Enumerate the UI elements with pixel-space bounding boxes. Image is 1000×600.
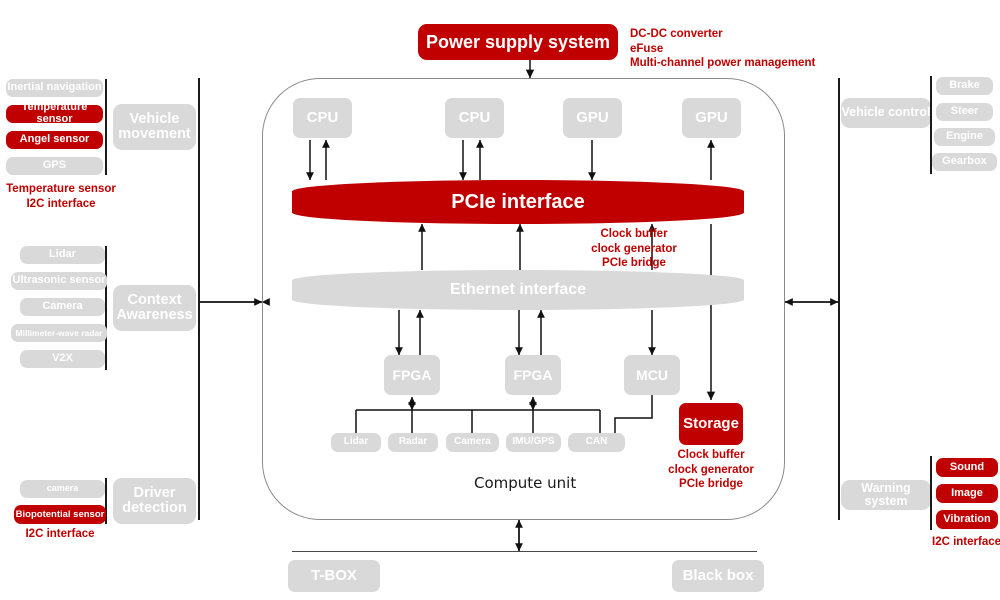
cpu-box-2[interactable]: CPU bbox=[445, 98, 504, 138]
gpu-label-1: GPU bbox=[576, 110, 609, 126]
cpu-label-2: CPU bbox=[459, 110, 491, 126]
group-label-vehicle-control[interactable]: Vehicle control bbox=[841, 98, 931, 128]
group-label-driver-detection[interactable]: Driver detection bbox=[113, 478, 196, 524]
actuator-engine[interactable]: Engine bbox=[934, 128, 995, 146]
fpga-label-2: FPGA bbox=[514, 368, 553, 383]
actuator-sound[interactable]: Sound bbox=[936, 458, 998, 477]
actuator-label-engine: Engine bbox=[946, 131, 983, 143]
gpu-box-1[interactable]: GPU bbox=[563, 98, 622, 138]
sensor-label-gps: GPS bbox=[43, 160, 66, 172]
sensor-temperature-sensor[interactable]: Temperature sensor bbox=[6, 105, 103, 123]
group-text-warning-system: Warning system bbox=[841, 482, 931, 508]
right-spine-line bbox=[838, 78, 840, 520]
bracket-warning-system bbox=[930, 456, 932, 530]
io-chip-label-radar: Radar bbox=[399, 437, 427, 448]
storage-label: Storage bbox=[683, 416, 739, 432]
cpu-label-1: CPU bbox=[307, 110, 339, 126]
actuator-gearbox[interactable]: Gearbox bbox=[932, 153, 997, 171]
mcu-box[interactable]: MCU bbox=[624, 355, 680, 395]
sensor-label-millimeter-wave-radar: Millimeter-wave radar bbox=[16, 329, 103, 338]
actuator-image[interactable]: Image bbox=[936, 484, 998, 503]
actuator-label-brake: Brake bbox=[949, 80, 980, 92]
black-box-label: Black box bbox=[683, 568, 754, 584]
sensor-biopotential-sensor[interactable]: Biopotential sensor bbox=[14, 505, 106, 524]
group-text-context-awareness: Context Awareness bbox=[116, 293, 192, 323]
bottom-bus-line bbox=[292, 551, 757, 552]
power-supply-annotation: DC-DC converter eFuse Multi-channel powe… bbox=[630, 27, 870, 71]
actuator-steer[interactable]: Steer bbox=[936, 103, 993, 121]
bracket-vehicle-movement bbox=[105, 79, 107, 175]
sensor-label-lidar: Lidar bbox=[49, 249, 76, 261]
sensor-label-ultrasonic-sensor: Ultrasonic sensor bbox=[13, 275, 106, 287]
power-supply-label: Power supply system bbox=[426, 33, 610, 52]
actuator-label-sound: Sound bbox=[950, 462, 984, 474]
group-text-vehicle-control: Vehicle control bbox=[842, 106, 931, 119]
group-text-driver-detection: Driver detection bbox=[122, 486, 186, 516]
storage-box[interactable]: Storage bbox=[679, 403, 743, 445]
sensor-driver-camera[interactable]: camera bbox=[20, 480, 105, 498]
sensor-label-biopotential-sensor: Biopotential sensor bbox=[16, 510, 105, 520]
warning-system-annotation: I2C interface bbox=[932, 535, 1000, 550]
gpu-box-2[interactable]: GPU bbox=[682, 98, 741, 138]
group-label-context-awareness[interactable]: Context Awareness bbox=[113, 285, 196, 331]
io-chip-label-lidar: Lidar bbox=[344, 437, 368, 448]
sensor-label-temperature-sensor: Temperature sensor bbox=[6, 102, 103, 125]
sensor-camera-context[interactable]: Camera bbox=[20, 298, 105, 316]
pcie-annotation: Clock buffer clock generator PCIe bridge bbox=[546, 227, 722, 271]
actuator-label-image: Image bbox=[951, 488, 983, 500]
left-spine-line bbox=[198, 78, 200, 520]
sensor-v2x[interactable]: V2X bbox=[20, 350, 105, 368]
sensor-angel-sensor[interactable]: Angel sensor bbox=[6, 131, 103, 149]
vehicle-movement-annotation: Temperature sensor I2C interface bbox=[2, 182, 120, 211]
io-chip-radar[interactable]: Radar bbox=[388, 433, 438, 452]
sensor-label-inertial-navigation: Inertial navigation bbox=[7, 82, 101, 94]
fpga-box-1[interactable]: FPGA bbox=[384, 355, 440, 395]
cpu-box-1[interactable]: CPU bbox=[293, 98, 352, 138]
sensor-label-angel-sensor: Angel sensor bbox=[20, 134, 90, 146]
group-label-warning-system[interactable]: Warning system bbox=[841, 480, 931, 510]
io-chip-lidar[interactable]: Lidar bbox=[331, 433, 381, 452]
pcie-interface-label: PCIe interface bbox=[451, 191, 584, 214]
io-chip-label-camera: Camera bbox=[454, 437, 491, 448]
black-box-node[interactable]: Black box bbox=[672, 560, 764, 592]
sensor-ultrasonic-sensor[interactable]: Ultrasonic sensor bbox=[11, 272, 107, 290]
t-box-node[interactable]: T-BOX bbox=[288, 560, 380, 592]
io-chip-label-can: CAN bbox=[586, 437, 608, 448]
gpu-label-2: GPU bbox=[695, 110, 728, 126]
sensor-lidar[interactable]: Lidar bbox=[20, 246, 105, 264]
actuator-label-vibration: Vibration bbox=[943, 514, 990, 526]
sensor-label-camera-context: Camera bbox=[42, 301, 82, 313]
fpga-label-1: FPGA bbox=[393, 368, 432, 383]
io-chip-camera[interactable]: Camera bbox=[446, 433, 499, 452]
group-text-vehicle-movement: Vehicle movement bbox=[118, 112, 191, 142]
actuator-label-gearbox: Gearbox bbox=[942, 156, 987, 168]
actuator-vibration[interactable]: Vibration bbox=[936, 510, 998, 529]
ethernet-interface-bar[interactable]: Ethernet interface bbox=[292, 270, 744, 310]
actuator-label-steer: Steer bbox=[951, 106, 979, 118]
group-label-vehicle-movement[interactable]: Vehicle movement bbox=[113, 104, 196, 150]
io-chip-can[interactable]: CAN bbox=[568, 433, 625, 452]
diagram-canvas: Power supply system DC-DC converter eFus… bbox=[0, 0, 1000, 600]
sensor-millimeter-wave-radar[interactable]: Millimeter-wave radar bbox=[11, 324, 107, 342]
bracket-context-awareness bbox=[105, 246, 107, 370]
fpga-box-2[interactable]: FPGA bbox=[505, 355, 561, 395]
sensor-label-driver-camera: camera bbox=[47, 484, 79, 493]
t-box-label: T-BOX bbox=[311, 568, 357, 584]
compute-unit-caption: Compute unit bbox=[474, 474, 576, 492]
actuator-brake[interactable]: Brake bbox=[936, 77, 993, 95]
driver-detection-annotation: I2C interface bbox=[4, 527, 116, 542]
ethernet-interface-label: Ethernet interface bbox=[450, 281, 586, 299]
io-chip-label-imu-gps: IMU/GPS bbox=[512, 437, 554, 448]
storage-annotation: Clock buffer clock generator PCIe bridge bbox=[653, 448, 769, 492]
mcu-label: MCU bbox=[636, 368, 668, 383]
power-supply-system-box[interactable]: Power supply system bbox=[418, 24, 618, 60]
sensor-label-v2x: V2X bbox=[52, 353, 73, 365]
sensor-gps[interactable]: GPS bbox=[6, 157, 103, 175]
pcie-interface-bar[interactable]: PCIe interface bbox=[292, 180, 744, 224]
io-chip-imu-gps[interactable]: IMU/GPS bbox=[506, 433, 561, 452]
sensor-inertial-navigation[interactable]: Inertial navigation bbox=[6, 79, 103, 97]
